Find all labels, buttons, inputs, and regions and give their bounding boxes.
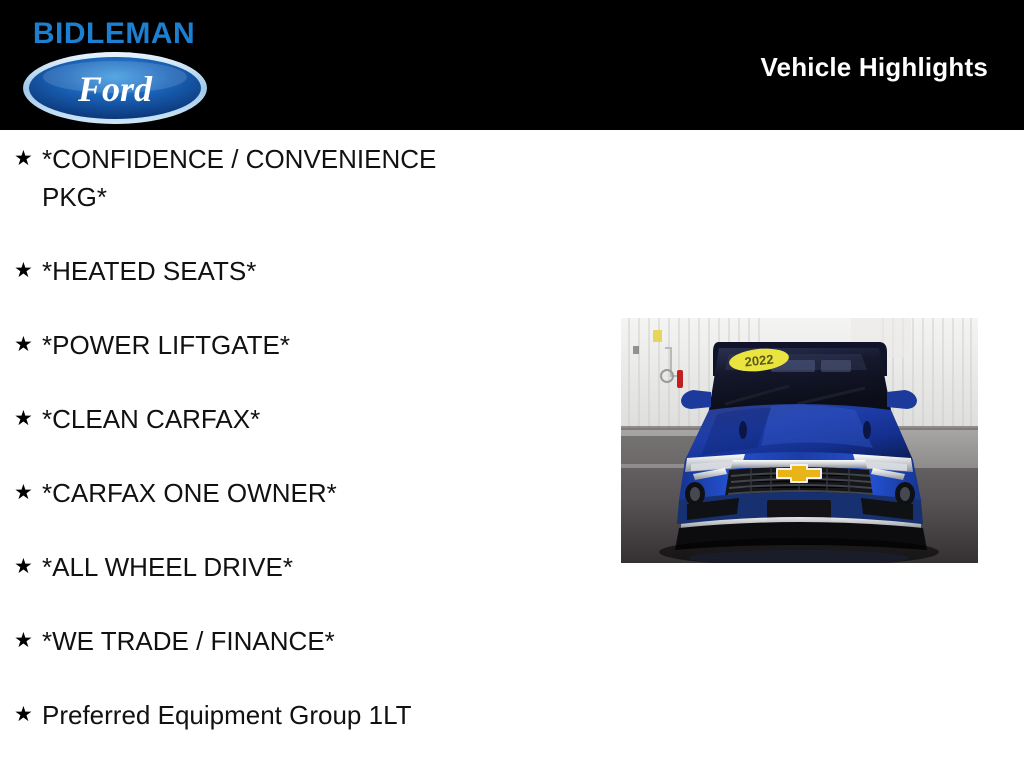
header-bar: BIDLEMAN For (0, 0, 1024, 130)
list-item: ★ *ALL WHEEL DRIVE* (0, 548, 560, 586)
list-item: ★ *POWER LIFTGATE* (0, 326, 560, 364)
list-item: ★ *CLEAN CARFAX* (0, 400, 560, 438)
list-item-label: *CLEAN CARFAX* (42, 400, 560, 438)
star-bullet-icon: ★ (14, 326, 42, 364)
vehicle-highlights-list: ★ *CONFIDENCE / CONVENIENCE PKG* ★ *HEAT… (0, 140, 560, 734)
star-bullet-icon: ★ (14, 548, 42, 586)
ford-oval-icon: Ford (22, 51, 208, 125)
star-bullet-icon: ★ (14, 140, 42, 178)
list-item: ★ *CARFAX ONE OWNER* (0, 474, 560, 512)
list-item-label: *CONFIDENCE / CONVENIENCE PKG* (42, 140, 560, 216)
star-bullet-icon: ★ (14, 252, 42, 290)
list-item-label: *CARFAX ONE OWNER* (42, 474, 560, 512)
list-item: ★ *CONFIDENCE / CONVENIENCE PKG* (0, 140, 560, 216)
svg-text:Ford: Ford (77, 69, 153, 109)
dealer-logo: BIDLEMAN For (14, 18, 214, 126)
star-bullet-icon: ★ (14, 474, 42, 512)
list-item: ★ *HEATED SEATS* (0, 252, 560, 290)
dealer-wordmark: BIDLEMAN (14, 18, 214, 50)
vehicle-photo: 2022 (621, 318, 978, 563)
list-item-label: Preferred Equipment Group 1LT (42, 696, 560, 734)
svg-text:2022: 2022 (744, 352, 774, 370)
list-item: ★ *WE TRADE / FINANCE* (0, 622, 560, 660)
page-title: Vehicle Highlights (760, 52, 988, 83)
list-item-label: *HEATED SEATS* (42, 252, 560, 290)
list-item-label: *POWER LIFTGATE* (42, 326, 560, 364)
star-bullet-icon: ★ (14, 622, 42, 660)
list-item-label: *ALL WHEEL DRIVE* (42, 548, 560, 586)
star-bullet-icon: ★ (14, 400, 42, 438)
star-bullet-icon: ★ (14, 696, 42, 734)
list-item-label: *WE TRADE / FINANCE* (42, 622, 560, 660)
list-item: ★ Preferred Equipment Group 1LT (0, 696, 560, 734)
